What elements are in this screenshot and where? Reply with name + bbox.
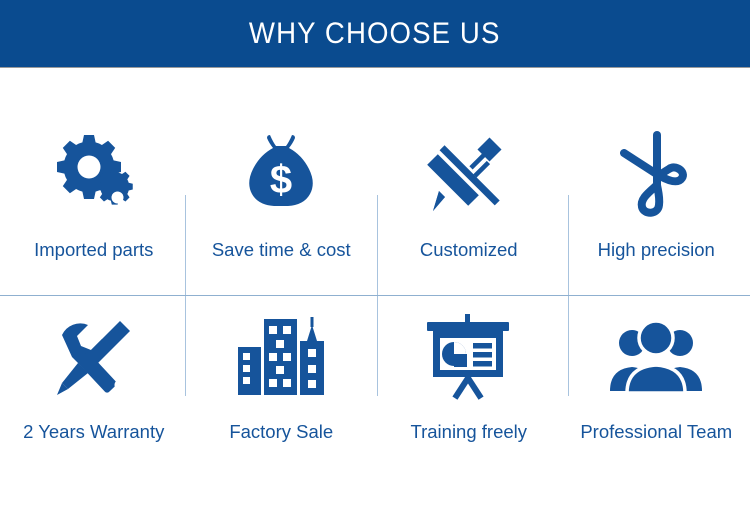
wrench-screwdriver-icon: [50, 305, 138, 409]
feature-item-professional-team[interactable]: Professional Team: [563, 305, 750, 465]
feature-label: Save time & cost: [212, 239, 351, 261]
feature-item-factory-sale[interactable]: Factory Sale: [188, 305, 376, 465]
feature-label: Imported parts: [34, 239, 153, 261]
feature-label: 2 Years Warranty: [23, 421, 164, 443]
horizontal-divider: [0, 295, 750, 296]
svg-text:$: $: [270, 158, 292, 202]
why-choose-us-banner: WHY CHOOSE US: [0, 0, 750, 505]
page-title: WHY CHOOSE US: [249, 17, 501, 51]
features-row-1: Imported parts $ Save time & cost: [0, 123, 750, 283]
money-bag-icon: $: [238, 123, 324, 227]
feature-label: Factory Sale: [229, 421, 333, 443]
features-grid: Imported parts $ Save time & cost: [0, 68, 750, 505]
gears-icon: [48, 123, 140, 227]
header-banner: WHY CHOOSE US: [0, 0, 750, 68]
scissors-icon: [614, 123, 698, 227]
feature-item-warranty[interactable]: 2 Years Warranty: [0, 305, 188, 465]
feature-label: Customized: [420, 239, 518, 261]
feature-item-high-precision[interactable]: High precision: [563, 123, 750, 283]
features-row-2: 2 Years Warranty: [0, 305, 750, 465]
feature-item-save-time-cost[interactable]: $ Save time & cost: [188, 123, 376, 283]
feature-label: High precision: [598, 239, 715, 261]
feature-item-imported-parts[interactable]: Imported parts: [0, 123, 188, 283]
feature-item-training[interactable]: Training freely: [375, 305, 563, 465]
pencil-cross-icon: [423, 123, 515, 227]
people-group-icon: [608, 305, 704, 409]
feature-item-customized[interactable]: Customized: [375, 123, 563, 283]
feature-label: Training freely: [410, 421, 527, 443]
feature-label: Professional Team: [580, 421, 732, 443]
presentation-board-icon: [421, 305, 517, 409]
buildings-icon: [235, 305, 327, 409]
